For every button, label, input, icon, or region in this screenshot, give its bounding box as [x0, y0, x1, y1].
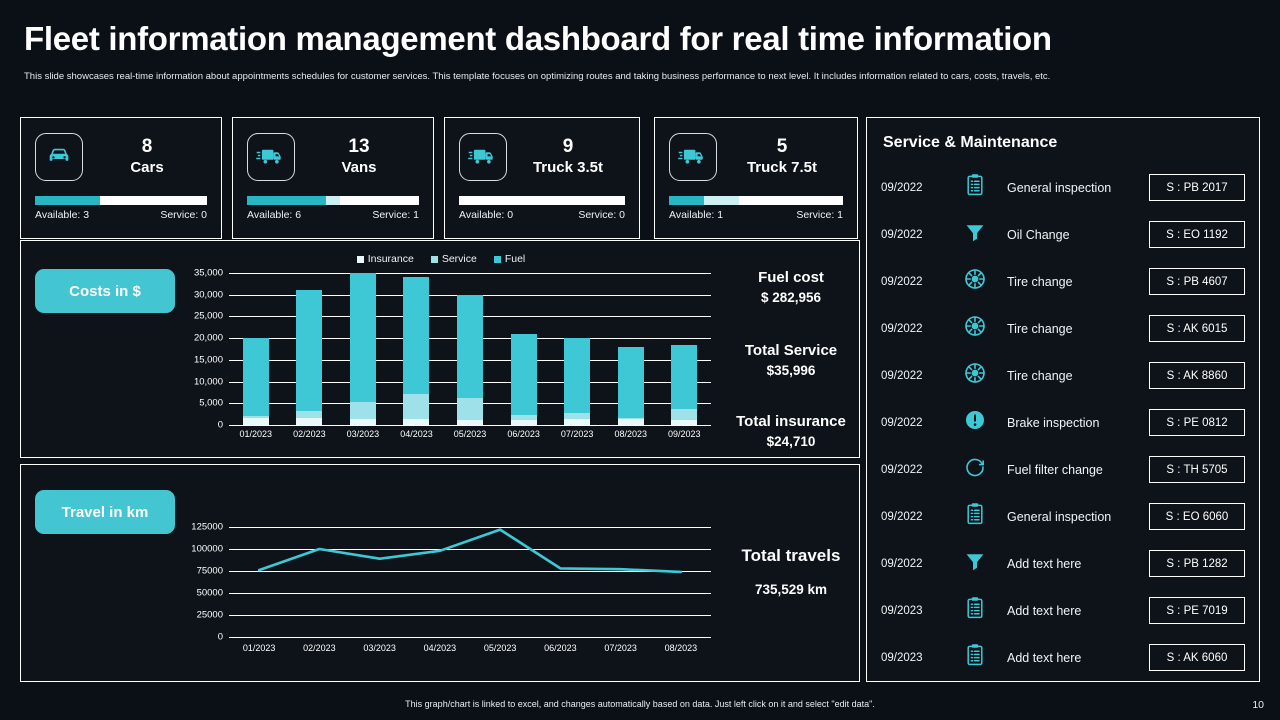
- total-insurance-heading: Total insurance: [711, 411, 871, 432]
- service-row[interactable]: 09/2022Brake inspectionS : PE 0812: [867, 399, 1259, 446]
- total-travels-value: 735,529 km: [711, 580, 871, 600]
- service-code-badge[interactable]: S : AK 8860: [1149, 362, 1245, 389]
- x-tick-label: 02/2023: [283, 429, 337, 439]
- total-insurance-value: $24,710: [711, 432, 871, 452]
- bar-segment-insurance: [618, 419, 644, 425]
- page-title: Fleet information management dashboard f…: [24, 20, 1254, 58]
- stacked-bar: [511, 334, 537, 425]
- bar-segment-insurance: [243, 418, 269, 425]
- bar-column: [336, 273, 390, 425]
- clipboard-icon: [964, 596, 986, 625]
- x-tick-label: 08/2023: [604, 429, 658, 439]
- costs-bars: [229, 273, 711, 425]
- service-code-badge[interactable]: S : AK 6015: [1149, 315, 1245, 342]
- y-tick-label: 50000: [197, 588, 223, 599]
- bar-segment-fuel: [350, 273, 376, 402]
- kpi-label: Truck 7.5t: [731, 158, 833, 178]
- service-icon-cell: [949, 596, 1001, 625]
- kpi-available-label: Available: 0: [459, 209, 513, 221]
- stacked-bar: [564, 338, 590, 425]
- bar-segment-fuel: [564, 338, 590, 413]
- costs-panel: Costs in $ Insurance Service Fuel 05,000…: [20, 240, 860, 458]
- x-tick-label: 05/2023: [443, 429, 497, 439]
- stacked-bar: [671, 345, 697, 425]
- y-tick-label: 25000: [197, 610, 223, 621]
- y-tick-label: 5,000: [199, 398, 223, 409]
- kpi-progress-service: [704, 196, 739, 205]
- service-code-badge[interactable]: S : TH 5705: [1149, 456, 1245, 483]
- footer-note: This graph/chart is linked to excel, and…: [0, 699, 1280, 709]
- x-tick-label: 01/2023: [229, 429, 283, 439]
- bar-segment-insurance: [350, 419, 376, 425]
- service-icon-cell: [949, 455, 1001, 484]
- bar-segment-insurance: [671, 420, 697, 425]
- x-tick-label: 08/2023: [651, 643, 711, 653]
- service-date: 09/2022: [881, 276, 949, 288]
- costs-x-axis: 01/202302/202303/202304/202305/202306/20…: [229, 429, 711, 439]
- kpi-card[interactable]: 5Truck 7.5tAvailable: 1Service: 1: [654, 117, 858, 239]
- truck-icon: [678, 141, 708, 174]
- bar-column: [497, 273, 551, 425]
- kpi-card-text: 13Vans: [309, 136, 419, 178]
- travel-line-series: [229, 527, 711, 637]
- truck-icon: [468, 141, 498, 174]
- service-date: 09/2022: [881, 511, 949, 523]
- y-tick-label: 10,000: [194, 376, 223, 387]
- bar-column: [390, 273, 444, 425]
- service-code-badge[interactable]: S : PB 2017: [1149, 174, 1245, 201]
- legend-item-fuel: Fuel: [494, 253, 525, 265]
- kpi-progress-bar: [459, 196, 625, 205]
- x-tick-label: 07/2023: [591, 643, 651, 653]
- alert-icon: [963, 408, 987, 437]
- bar-segment-service: [296, 411, 322, 418]
- bar-segment-service: [403, 394, 429, 419]
- refresh-icon: [963, 455, 987, 484]
- service-label: Tire change: [1001, 275, 1149, 289]
- costs-badge: Costs in $: [35, 269, 175, 313]
- kpi-label: Cars: [97, 158, 197, 178]
- kpi-count: 8: [97, 136, 197, 158]
- kpi-progress-available: [247, 196, 326, 205]
- kpi-card-text: 8Cars: [97, 136, 207, 178]
- service-row[interactable]: 09/2022Oil ChangeS : EO 1192: [867, 211, 1259, 258]
- x-tick-label: 03/2023: [336, 429, 390, 439]
- y-tick-label: 20,000: [194, 333, 223, 344]
- service-icon-cell: [949, 643, 1001, 672]
- kpi-progress-available: [35, 196, 100, 205]
- service-icon-cell: [949, 361, 1001, 390]
- kpi-card[interactable]: 8CarsAvailable: 3Service: 0: [20, 117, 222, 239]
- costs-bar-chart[interactable]: 05,00010,00015,00020,00025,00030,00035,0…: [181, 273, 711, 443]
- bar-column: [283, 273, 337, 425]
- fuel-cost-heading: Fuel cost: [711, 267, 871, 288]
- page-subtitle: This slide showcases real-time informati…: [24, 70, 1260, 83]
- costs-totals: Fuel cost $ 282,956 Total Service $35,99…: [711, 259, 871, 452]
- bar-segment-insurance: [564, 419, 590, 425]
- service-maintenance-panel: Service & Maintenance 09/2022General ins…: [866, 117, 1260, 682]
- legend-item-insurance: Insurance: [357, 253, 414, 265]
- x-tick-label: 01/2023: [229, 643, 289, 653]
- kpi-icon-box: [247, 133, 295, 181]
- kpi-card-text: 9Truck 3.5t: [521, 136, 625, 178]
- y-tick-label: 15,000: [194, 354, 223, 365]
- costs-y-axis: 05,00010,00015,00020,00025,00030,00035,0…: [181, 273, 227, 425]
- x-tick-label: 03/2023: [350, 643, 410, 653]
- kpi-progress-bar: [669, 196, 843, 205]
- tire-icon: [963, 361, 987, 390]
- bar-column: [443, 273, 497, 425]
- service-row[interactable]: 09/2022General inspectionS : EO 6060: [867, 493, 1259, 540]
- service-label: Add text here: [1001, 557, 1149, 571]
- y-tick-label: 125000: [191, 522, 223, 533]
- travel-line-chart[interactable]: 0250005000075000100000125000 01/202302/2…: [181, 527, 711, 657]
- service-date: 09/2023: [881, 605, 949, 617]
- service-date: 09/2023: [881, 652, 949, 664]
- service-icon-cell: [949, 314, 1001, 343]
- y-tick-label: 30,000: [194, 289, 223, 300]
- service-icon-cell: [949, 267, 1001, 296]
- service-code-badge[interactable]: S : EO 1192: [1149, 221, 1245, 248]
- kpi-card-footer: Available: 3Service: 0: [35, 209, 207, 221]
- bar-segment-service: [671, 409, 697, 420]
- kpi-card-header: 9Truck 3.5t: [445, 118, 639, 196]
- service-code-badge[interactable]: S : AK 6060: [1149, 644, 1245, 671]
- kpi-label: Truck 3.5t: [521, 158, 615, 178]
- travel-y-axis: 0250005000075000100000125000: [181, 527, 227, 637]
- bar-segment-fuel: [296, 290, 322, 410]
- bar-segment-insurance: [511, 420, 537, 425]
- service-label: Fuel filter change: [1001, 463, 1149, 477]
- kpi-progress-service: [326, 196, 339, 205]
- kpi-card[interactable]: 13VansAvailable: 6Service: 1: [232, 117, 434, 239]
- service-panel-title: Service & Maintenance: [883, 134, 1057, 152]
- bar-segment-fuel: [403, 277, 429, 394]
- bar-segment-insurance: [403, 419, 429, 425]
- stacked-bar: [296, 290, 322, 425]
- service-date: 09/2022: [881, 370, 949, 382]
- kpi-available-label: Available: 3: [35, 209, 89, 221]
- y-tick-label: 0: [218, 420, 223, 431]
- stacked-bar: [618, 347, 644, 425]
- fuel-cost-value: $ 282,956: [711, 288, 871, 308]
- service-label: General inspection: [1001, 510, 1149, 524]
- service-row[interactable]: 09/2022General inspectionS : PB 2017: [867, 164, 1259, 211]
- x-tick-label: 02/2023: [289, 643, 349, 653]
- y-tick-label: 0: [218, 632, 223, 643]
- travel-totals: Total travels 735,529 km: [711, 545, 871, 600]
- kpi-card-footer: Available: 6Service: 1: [247, 209, 419, 221]
- x-tick-label: 06/2023: [530, 643, 590, 653]
- travel-badge: Travel in km: [35, 490, 175, 534]
- tire-icon: [963, 267, 987, 296]
- total-service-value: $35,996: [711, 361, 871, 381]
- bar-segment-fuel: [671, 345, 697, 409]
- kpi-icon-box: [669, 133, 717, 181]
- service-row[interactable]: 09/2022Tire changeS : PB 4607: [867, 258, 1259, 305]
- service-list: 09/2022General inspectionS : PB 201709/2…: [867, 164, 1259, 681]
- tire-icon: [963, 314, 987, 343]
- kpi-progress-available: [669, 196, 704, 205]
- bar-column: [604, 273, 658, 425]
- bar-column: [229, 273, 283, 425]
- kpi-card-header: 8Cars: [21, 118, 221, 196]
- service-label: General inspection: [1001, 181, 1149, 195]
- x-tick-label: 04/2023: [410, 643, 470, 653]
- kpi-card-text: 5Truck 7.5t: [731, 136, 843, 178]
- kpi-count: 5: [731, 136, 833, 158]
- travel-x-axis: 01/202302/202303/202304/202305/202306/20…: [229, 643, 711, 653]
- travel-panel: Travel in km 025000500007500010000012500…: [20, 464, 860, 682]
- stacked-bar: [403, 277, 429, 425]
- stacked-bar: [457, 295, 483, 425]
- kpi-icon-box: [35, 133, 83, 181]
- service-code-badge[interactable]: S : PE 0812: [1149, 409, 1245, 436]
- service-code-badge[interactable]: S : PB 1282: [1149, 550, 1245, 577]
- kpi-count: 9: [521, 136, 615, 158]
- service-label: Add text here: [1001, 604, 1149, 618]
- kpi-service-label: Service: 1: [372, 209, 419, 221]
- service-row[interactable]: 09/2022Fuel filter changeS : TH 5705: [867, 446, 1259, 493]
- bar-segment-service: [457, 398, 483, 420]
- service-row[interactable]: 09/2022Tire changeS : AK 8860: [867, 352, 1259, 399]
- service-date: 09/2022: [881, 417, 949, 429]
- service-code-badge[interactable]: S : PB 4607: [1149, 268, 1245, 295]
- bar-column: [550, 273, 604, 425]
- legend-item-service: Service: [431, 253, 477, 265]
- van-icon: [256, 141, 286, 174]
- bar-segment-fuel: [511, 334, 537, 416]
- kpi-card-header: 13Vans: [233, 118, 433, 196]
- kpi-label: Vans: [309, 158, 409, 178]
- service-icon-cell: [949, 502, 1001, 531]
- bar-segment-fuel: [618, 347, 644, 418]
- funnel-icon: [963, 549, 987, 578]
- service-icon-cell: [949, 549, 1001, 578]
- y-tick-label: 75000: [197, 566, 223, 577]
- stacked-bar: [350, 273, 376, 425]
- kpi-card-header: 5Truck 7.5t: [655, 118, 857, 196]
- kpi-card-footer: Available: 0Service: 0: [459, 209, 625, 221]
- service-icon-cell: [949, 173, 1001, 202]
- service-label: Tire change: [1001, 369, 1149, 383]
- y-tick-label: 100000: [191, 544, 223, 555]
- service-label: Brake inspection: [1001, 416, 1149, 430]
- service-row[interactable]: 09/2023Add text hereS : PE 7019: [867, 587, 1259, 634]
- stacked-bar: [243, 338, 269, 425]
- kpi-available-label: Available: 6: [247, 209, 301, 221]
- service-icon-cell: [949, 220, 1001, 249]
- costs-legend: Insurance Service Fuel: [201, 253, 681, 265]
- x-tick-label: 07/2023: [550, 429, 604, 439]
- kpi-progress-bar: [247, 196, 419, 205]
- page-number: 10: [1252, 699, 1264, 711]
- clipboard-icon: [964, 173, 986, 202]
- clipboard-icon: [964, 643, 986, 672]
- kpi-card[interactable]: 9Truck 3.5tAvailable: 0Service: 0: [444, 117, 640, 239]
- bar-segment-insurance: [296, 418, 322, 425]
- bar-segment-service: [350, 402, 376, 419]
- kpi-card-footer: Available: 1Service: 1: [669, 209, 843, 221]
- y-tick-label: 25,000: [194, 311, 223, 322]
- bar-segment-fuel: [243, 338, 269, 416]
- service-label: Tire change: [1001, 322, 1149, 336]
- y-tick-label: 35,000: [194, 268, 223, 279]
- service-row[interactable]: 09/2022Add text hereS : PB 1282: [867, 540, 1259, 587]
- bar-segment-insurance: [457, 420, 483, 425]
- service-date: 09/2022: [881, 182, 949, 194]
- bar-column: [658, 273, 712, 425]
- service-date: 09/2022: [881, 323, 949, 335]
- service-row[interactable]: 09/2023Add text hereS : AK 6060: [867, 634, 1259, 681]
- service-label: Add text here: [1001, 651, 1149, 665]
- service-code-badge[interactable]: S : PE 7019: [1149, 597, 1245, 624]
- total-travels-heading: Total travels: [711, 545, 871, 566]
- service-label: Oil Change: [1001, 228, 1149, 242]
- service-icon-cell: [949, 408, 1001, 437]
- kpi-count: 13: [309, 136, 409, 158]
- service-date: 09/2022: [881, 229, 949, 241]
- service-date: 09/2022: [881, 464, 949, 476]
- funnel-icon: [963, 220, 987, 249]
- total-service-heading: Total Service: [711, 340, 871, 361]
- bar-segment-fuel: [457, 295, 483, 398]
- kpi-service-label: Service: 0: [160, 209, 207, 221]
- kpi-service-label: Service: 0: [578, 209, 625, 221]
- dashboard-slide: Fleet information management dashboard f…: [0, 0, 1280, 720]
- kpi-available-label: Available: 1: [669, 209, 723, 221]
- service-code-badge[interactable]: S : EO 6060: [1149, 503, 1245, 530]
- kpi-icon-box: [459, 133, 507, 181]
- x-tick-label: 05/2023: [470, 643, 530, 653]
- service-row[interactable]: 09/2022Tire changeS : AK 6015: [867, 305, 1259, 352]
- kpi-service-label: Service: 1: [796, 209, 843, 221]
- x-tick-label: 06/2023: [497, 429, 551, 439]
- service-date: 09/2022: [881, 558, 949, 570]
- clipboard-icon: [964, 502, 986, 531]
- car-icon: [45, 141, 73, 174]
- x-tick-label: 09/2023: [658, 429, 712, 439]
- x-tick-label: 04/2023: [390, 429, 444, 439]
- kpi-progress-bar: [35, 196, 207, 205]
